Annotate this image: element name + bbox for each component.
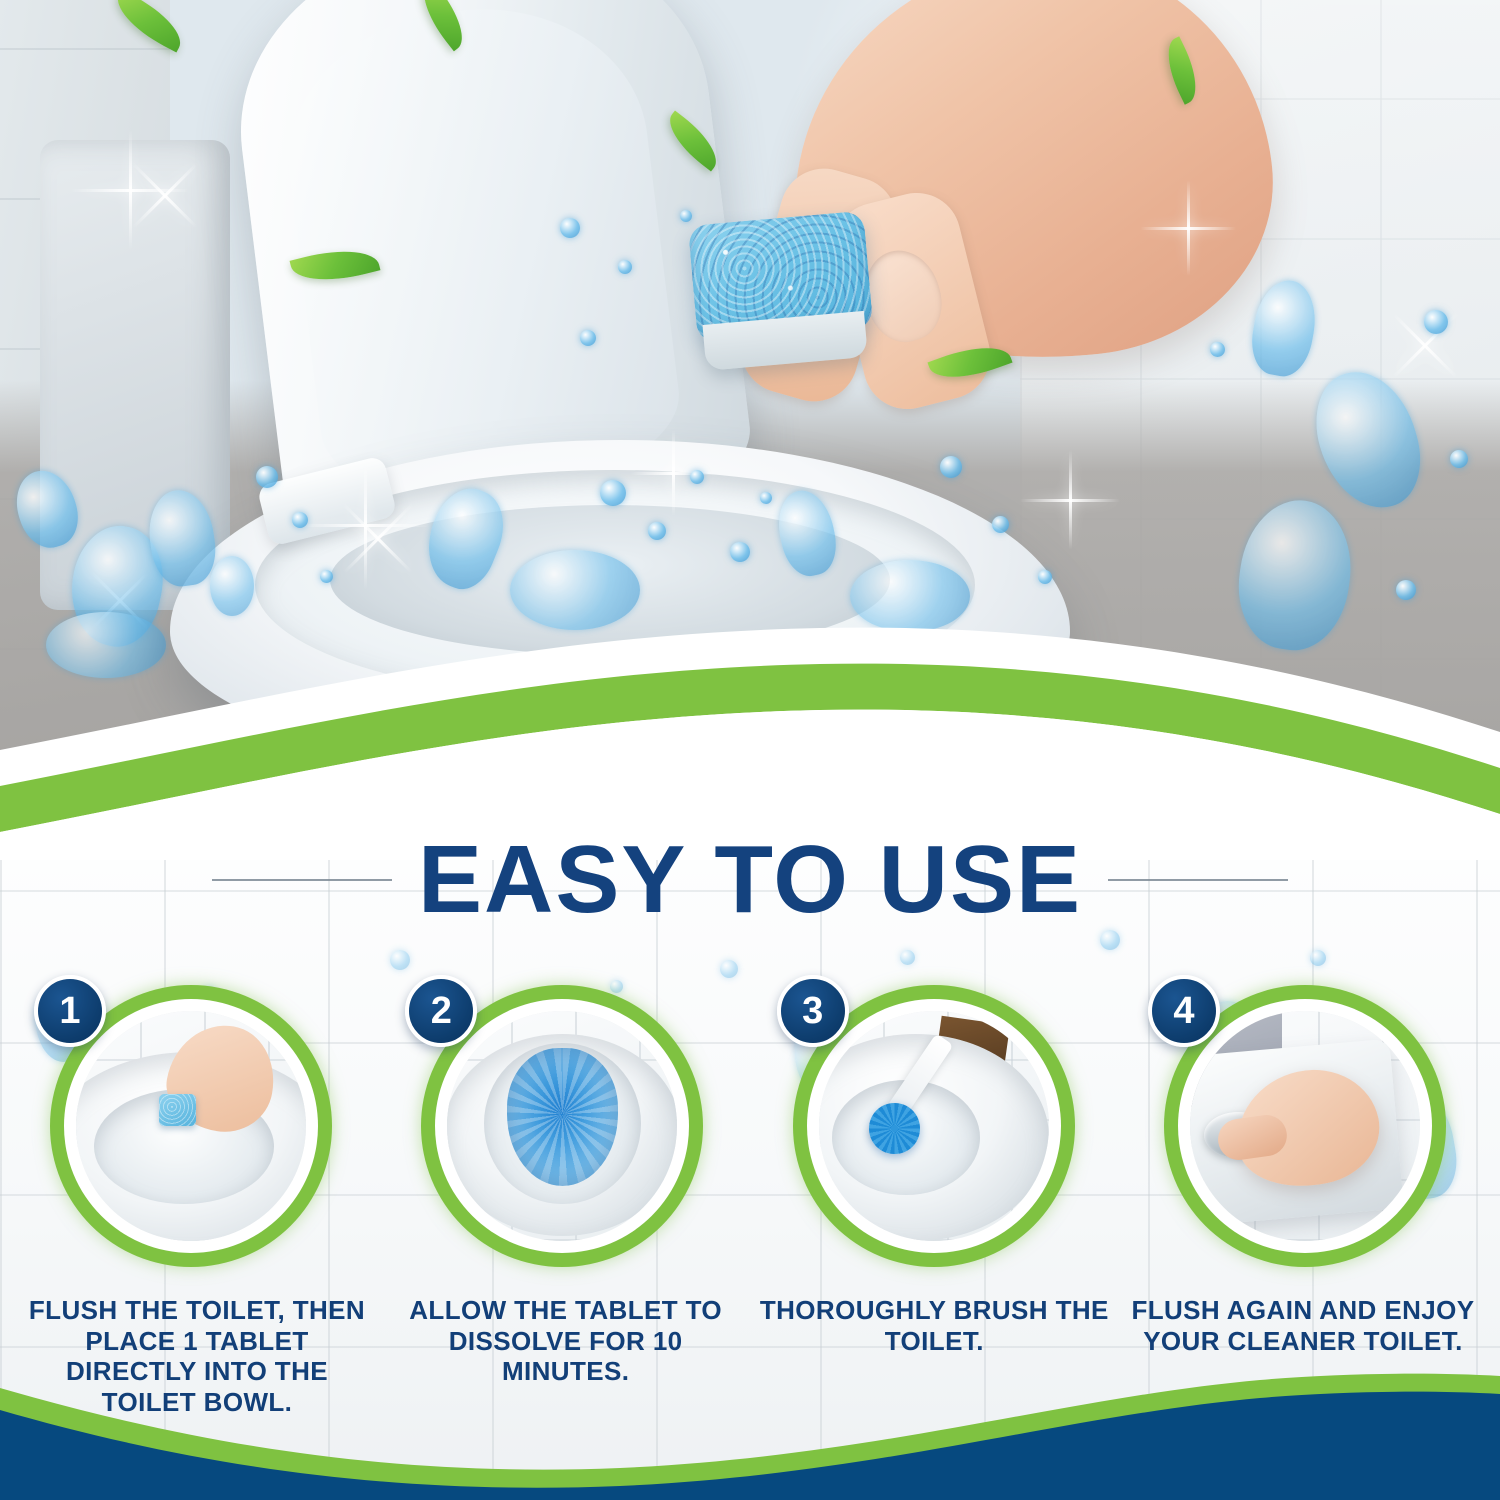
title-rule-right: [1108, 879, 1288, 881]
effervescent-tablet: [159, 1094, 196, 1126]
step-item: 4: [1142, 975, 1472, 1295]
blue-swirling-water: [507, 1048, 617, 1186]
step-number-badge: 1: [34, 975, 106, 1047]
step-photo: [1190, 1011, 1420, 1241]
title-rule-left: [212, 879, 392, 881]
page-title-row: EASY TO USE: [0, 825, 1500, 935]
step-item: 3: [771, 975, 1101, 1295]
sparkle-icon: [630, 430, 716, 516]
infographic-canvas: EASY TO USE 1: [0, 0, 1500, 1500]
step-number-badge: 3: [777, 975, 849, 1047]
effervescent-tablet: [688, 211, 876, 376]
step-number-badge: 2: [405, 975, 477, 1047]
steps-list: 1 2: [0, 975, 1500, 1305]
sparkle-icon: [1140, 180, 1236, 276]
step-photo: [447, 1011, 677, 1241]
page-title: EASY TO USE: [418, 832, 1082, 928]
footer-wave-bar: [0, 1370, 1500, 1500]
step-number-badge: 4: [1148, 975, 1220, 1047]
step-photo: [819, 1011, 1049, 1241]
step-photo: [76, 1011, 306, 1241]
step-item: 1: [28, 975, 358, 1295]
green-wave-divider: [0, 600, 1500, 860]
toilet-brush-head: [869, 1103, 920, 1154]
step-item: 2: [399, 975, 729, 1295]
sparkle-icon: [1020, 450, 1120, 550]
